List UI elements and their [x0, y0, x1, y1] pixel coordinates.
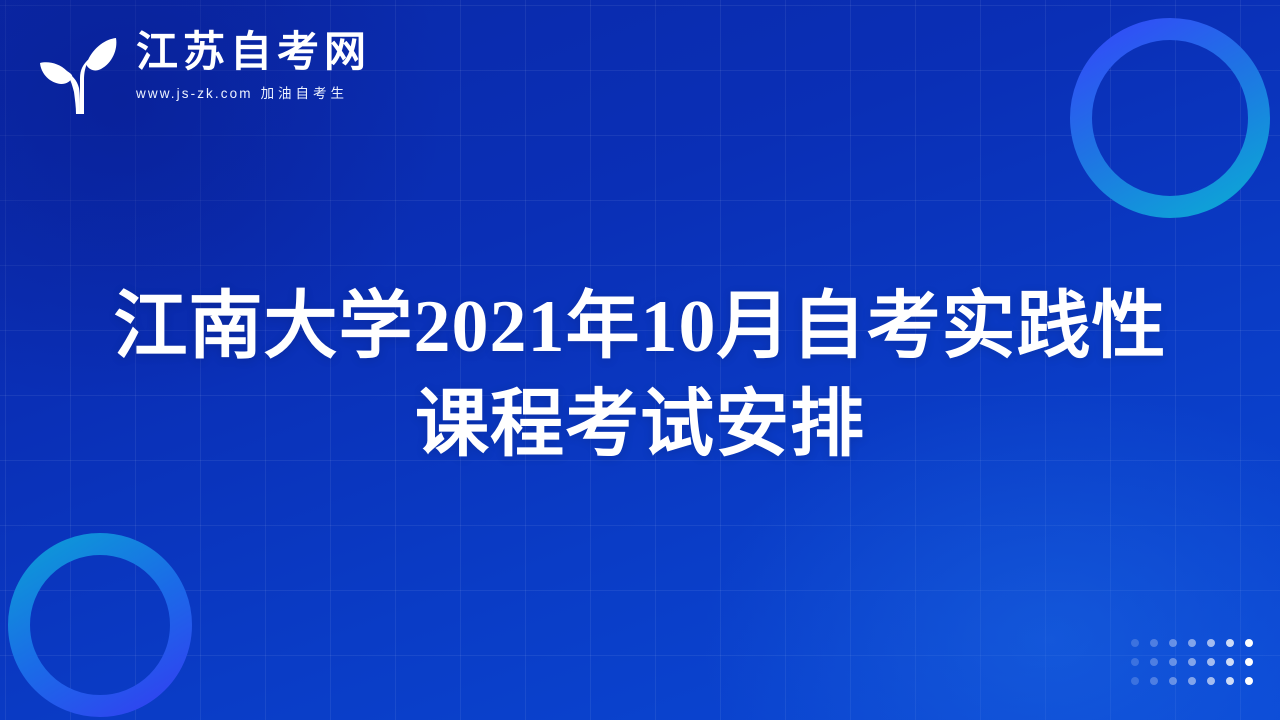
sprout-icon: [36, 30, 122, 116]
dot: [1225, 653, 1244, 672]
dot: [1149, 634, 1168, 653]
site-slogan: 加油自考生: [261, 86, 349, 101]
dot: [1149, 672, 1168, 691]
logo-tagline: www.js-zk.com加油自考生: [136, 82, 371, 102]
dot: [1149, 653, 1168, 672]
dot: [1244, 672, 1263, 691]
logo-text-block: 江苏自考网 www.js-zk.com加油自考生: [136, 28, 371, 102]
site-url: www.js-zk.com: [136, 86, 253, 101]
dot: [1168, 672, 1187, 691]
dot: [1130, 634, 1149, 653]
brand-name: 江苏自考网: [136, 28, 371, 75]
dot: [1244, 634, 1263, 653]
ring-top-right-icon: [1070, 18, 1270, 218]
dot: [1168, 634, 1187, 653]
page-title: 江南大学2021年10月自考实践性课程考试安排: [0, 278, 1280, 475]
page-title-text: 江南大学2021年10月自考实践性课程考试安排: [114, 286, 1167, 466]
dot: [1206, 672, 1225, 691]
dot: [1244, 653, 1263, 672]
poster-canvas: 江苏自考网 www.js-zk.com加油自考生 江南大学2021年10月自考实…: [0, 0, 1280, 720]
ring-bottom-left-icon: [8, 533, 192, 717]
dot: [1206, 634, 1225, 653]
dot-grid: [1130, 634, 1263, 691]
dot: [1187, 672, 1206, 691]
dot: [1130, 672, 1149, 691]
site-logo[interactable]: 江苏自考网 www.js-zk.com加油自考生: [36, 28, 371, 116]
dot: [1130, 653, 1149, 672]
dot: [1206, 653, 1225, 672]
dot: [1187, 653, 1206, 672]
dot: [1187, 634, 1206, 653]
dot: [1168, 653, 1187, 672]
dot: [1225, 634, 1244, 653]
dot: [1225, 672, 1244, 691]
